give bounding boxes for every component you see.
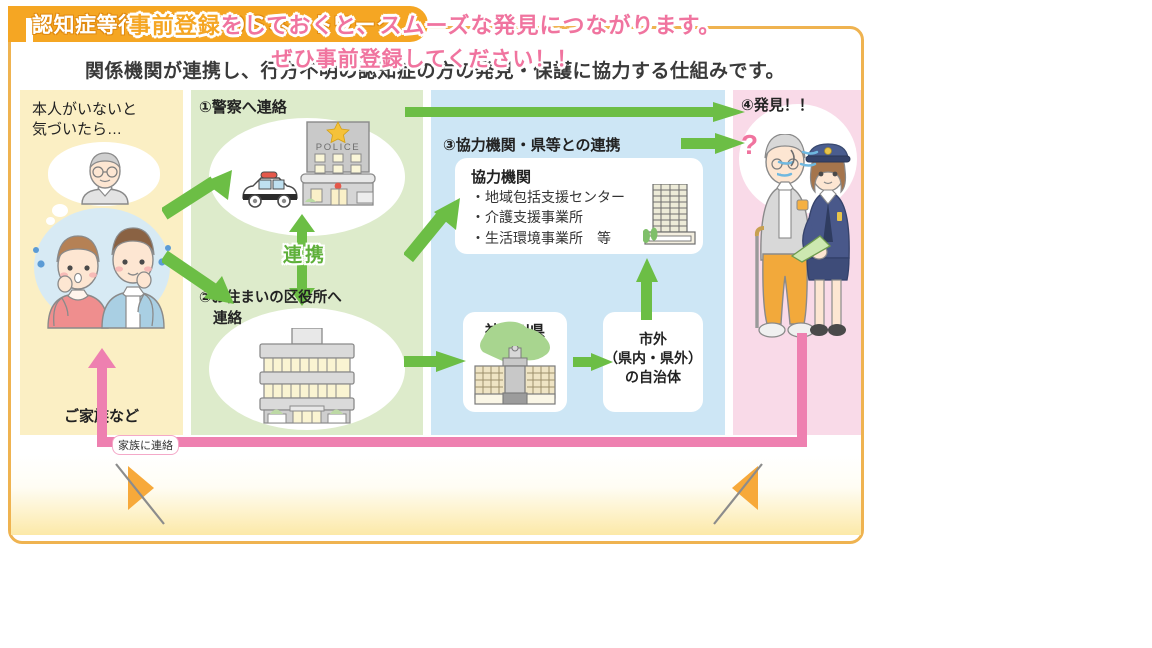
- arrow-ward-to-coop-box: [404, 196, 464, 264]
- step2-line2: 連絡: [213, 307, 242, 328]
- arrow-ward-to-prefecture: [404, 350, 466, 372]
- police-car-illustration: [239, 170, 301, 210]
- police-station-illustration: POLICE: [287, 116, 389, 208]
- banner-line-2: ぜひ事前登録してください！！: [0, 43, 850, 73]
- coop-box-items: ・地域包括支援センター ・介護支援事業所 ・生活環境事業所 等: [471, 187, 625, 248]
- prefecture-box: 神奈川県: [463, 312, 567, 412]
- banner-slash-right-icon: [706, 462, 766, 528]
- motion-lines-icon: [777, 148, 823, 196]
- arrow-family-to-ward-office: [162, 250, 244, 308]
- outside-line1: 市外: [639, 331, 667, 347]
- worry-marks-icon: [28, 240, 178, 280]
- svg-text:POLICE: POLICE: [316, 142, 360, 153]
- arrow-outside-to-coop-box: [635, 258, 659, 320]
- coop-box-title: 協力機関: [471, 166, 531, 187]
- return-flow-vertical-right: [797, 333, 807, 447]
- outside-municipality-label: 市外 （県内・県外） の自治体: [603, 330, 703, 387]
- return-flow-tag: 家族に連絡: [112, 435, 179, 455]
- ward-office-illustration: [246, 328, 368, 424]
- step3-label: ③協力機関・県等との連携: [443, 134, 621, 155]
- coop-item-0: ・地域包括支援センター: [471, 187, 625, 207]
- return-flow-horizontal: [97, 437, 807, 447]
- arrow-coop-to-found: [681, 132, 745, 154]
- arrow-prefecture-to-outside: [573, 352, 613, 372]
- return-flow-vertical-left: [97, 360, 107, 445]
- coop-item-2: ・生活環境事業所 等: [471, 228, 625, 248]
- step1-label: ①警察へ連絡: [199, 96, 287, 117]
- outside-line3: の自治体: [625, 369, 681, 385]
- banner-rest-text: をしておくと、スムーズな発見につながります。: [221, 13, 722, 38]
- family-notice: 本人がいないと 気づいたら…: [32, 100, 137, 141]
- coop-item-1: ・介護支援事業所: [471, 207, 625, 227]
- banner-accent-text: 事前登録: [129, 13, 221, 38]
- family-notice-line1: 本人がいないと: [32, 101, 137, 118]
- banner-line-1: 事前登録をしておくと、スムーズな発見につながります。: [0, 8, 850, 40]
- prefecture-office-illustration: [473, 346, 557, 408]
- office-tower-illustration: [643, 184, 697, 248]
- step4-label: ④発見！！: [741, 94, 814, 115]
- elderly-man-illustration: [72, 146, 138, 208]
- poster-root: 認知症等行方不明ＳＯＳネットワーク 関係機関が連携し、行方不明の認知症の方の発見…: [0, 0, 880, 548]
- outside-line2: （県内・県外）: [604, 350, 702, 366]
- outside-municipality-box: 市外 （県内・県外） の自治体: [603, 312, 703, 412]
- family-notice-line2: 気づいたら…: [32, 121, 122, 138]
- return-flow-arrowhead: [88, 348, 116, 370]
- arrow-police-to-found: [405, 102, 745, 122]
- banner-slash-left-icon: [112, 462, 172, 528]
- coop-agencies-box: 協力機関 ・地域包括支援センター ・介護支援事業所 ・生活環境事業所 等: [455, 158, 703, 254]
- cooperation-label: 連携: [283, 240, 327, 267]
- arrow-family-to-police: [162, 168, 240, 220]
- leaflet-icon: [790, 234, 832, 264]
